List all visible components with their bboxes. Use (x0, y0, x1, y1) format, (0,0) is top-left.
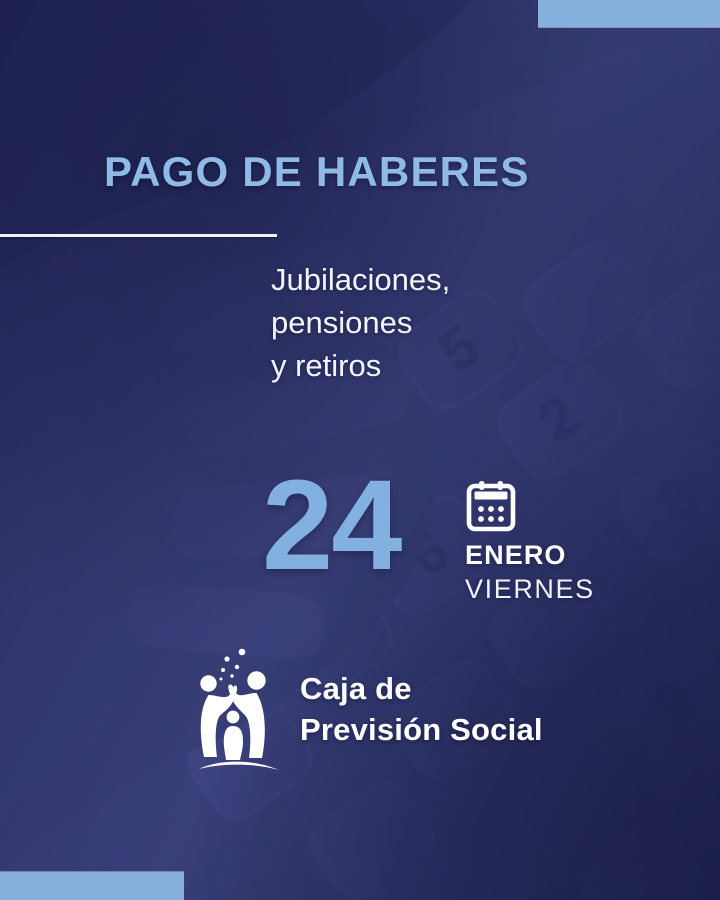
logo-wordmark: Caja de Previsión Social (300, 668, 543, 750)
family-figures-logo-icon (196, 645, 282, 773)
date-day-number: 24 (262, 466, 400, 586)
subtitle-line-1: Jubilaciones, (271, 258, 450, 301)
date-block: 24 ENERO (262, 466, 662, 606)
subtitle-block: Jubilaciones, pensiones y retiros (271, 258, 450, 387)
title-divider-rule (0, 234, 277, 237)
date-month-weekday-group: ENERO VIERNES (465, 480, 655, 605)
subtitle-line-3: y retiros (271, 344, 450, 387)
logo-line-1: Caja de (300, 668, 543, 709)
date-month: ENERO (465, 540, 655, 571)
subtitle-line-2: pensiones (271, 301, 450, 344)
page-title: PAGO DE HABERES (104, 148, 530, 196)
organization-logo: Caja de Previsión Social (196, 645, 543, 773)
payment-announcement-poster: PAGO DE HABERES Jubilaciones, pensiones … (0, 0, 720, 900)
calendar-icon (465, 480, 517, 532)
logo-line-2: Previsión Social (300, 709, 543, 750)
date-weekday: VIERNES (465, 574, 655, 605)
